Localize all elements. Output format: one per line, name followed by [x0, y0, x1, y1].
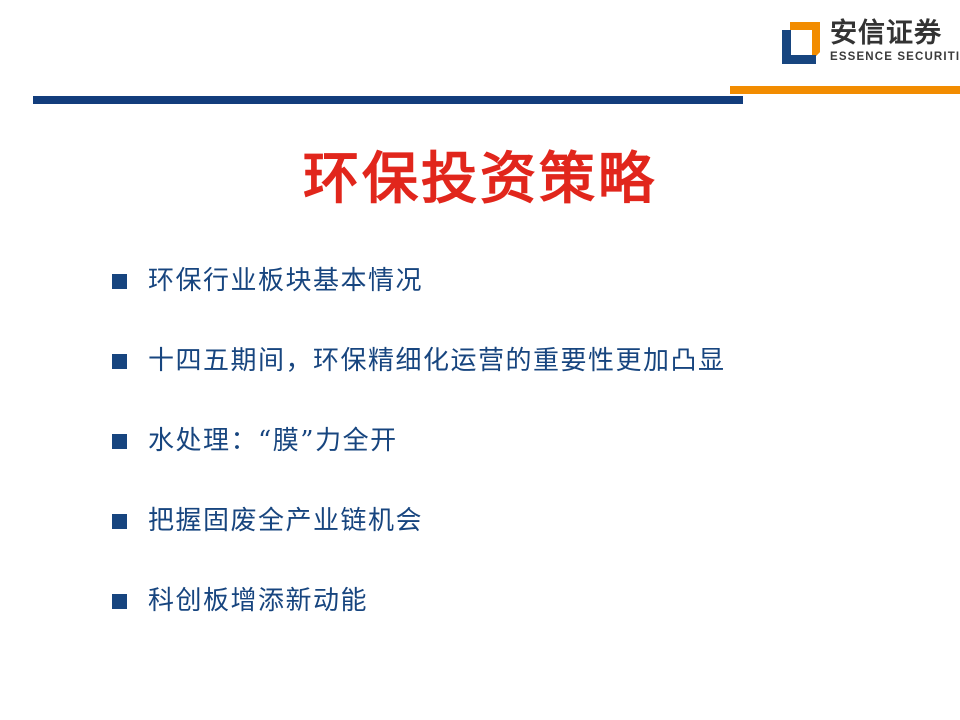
- list-item-label: 环保行业板块基本情况: [148, 262, 423, 300]
- list-item: 环保行业板块基本情况: [112, 262, 932, 300]
- list-item-label: 水处理：“膜”力全开: [148, 422, 398, 460]
- list-item: 水处理：“膜”力全开: [112, 422, 932, 460]
- slide-title: 环保投资策略: [0, 143, 960, 215]
- brand-name-cn: 安信证券: [830, 18, 960, 48]
- list-item-label: 十四五期间，环保精细化运营的重要性更加凸显: [148, 342, 726, 380]
- bullet-square-icon: [112, 594, 127, 609]
- divider-bar-navy: [33, 96, 743, 104]
- list-item-label: 科创板增添新动能: [148, 582, 368, 620]
- essence-securities-logo-mark-icon: [776, 18, 826, 68]
- divider-bar-orange: [730, 86, 960, 94]
- bullet-square-icon: [112, 514, 127, 529]
- presentation-slide: 安信证券 ESSENCE SECURITIES 环保投资策略 环保行业板块基本情…: [0, 0, 960, 720]
- list-item: 科创板增添新动能: [112, 582, 932, 620]
- bullet-square-icon: [112, 434, 127, 449]
- list-item-label: 把握固废全产业链机会: [148, 502, 423, 540]
- list-item: 把握固废全产业链机会: [112, 502, 932, 540]
- brand-wordmark: 安信证券 ESSENCE SECURITIES: [830, 18, 960, 70]
- bullet-square-icon: [112, 354, 127, 369]
- brand-name-en: ESSENCE SECURITIES: [830, 50, 960, 64]
- brand-logo: 安信证券 ESSENCE SECURITIES: [776, 16, 960, 78]
- agenda-list: 环保行业板块基本情况 十四五期间，环保精细化运营的重要性更加凸显 水处理：“膜”…: [112, 262, 932, 620]
- bullet-square-icon: [112, 274, 127, 289]
- list-item: 十四五期间，环保精细化运营的重要性更加凸显: [112, 342, 932, 380]
